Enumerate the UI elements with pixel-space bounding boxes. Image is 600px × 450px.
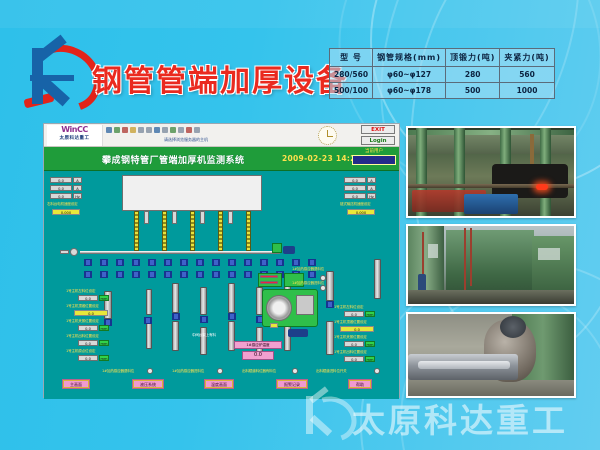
roller-icon [276,259,284,266]
photo-factory-hall [406,126,576,218]
roller-icon [148,271,156,278]
roller-icon [212,271,220,278]
status-led-label: 1#加热感应器进料位 [292,281,324,286]
right-readout-unit-3: Hz [367,193,376,199]
current-user-label: 当前用户 [352,148,396,155]
right-readout-field-3[interactable]: 0.0 [344,341,364,347]
joint-icon [228,313,236,320]
bottom-led-label-2: 1#加热感应器进料位 [172,369,204,374]
clamp-block [296,295,314,315]
watermark-logo-icon [304,396,344,436]
heater-post [134,211,139,251]
joint-icon [326,301,334,308]
left-readout-value-1[interactable]: 0.0 [50,177,72,183]
heater-post [218,211,223,251]
joint-icon [172,313,180,320]
col-header-pipe-spec: 钢管规格(mm) [373,49,446,67]
copy-icon[interactable] [138,127,144,133]
roller-icon [228,259,236,266]
current-user-box[interactable]: 当前用户 [352,148,396,165]
left-readout-label-3: 1号主机夹紧位置设定 [66,319,99,324]
roller-icon [292,259,300,266]
left-readout-unit-f4: mm [99,340,109,346]
roller [70,248,78,256]
nav-button-main[interactable]: 主画面 [62,379,90,389]
logo-k-icon [30,48,76,104]
nozzle [228,211,233,224]
undo-icon[interactable] [154,127,160,133]
nozzle [144,211,149,224]
status-led-label: 1#加热感应器退料位 [292,267,324,272]
cell-upset-force: 500 [446,83,500,99]
right-readout-unit-2: A [367,185,376,191]
roller-icon [244,271,252,278]
right-readout-label-3: 1号主机夹紧位置设定 [334,335,367,340]
nozzle [200,211,205,224]
left-readout-unit-f1: mm [99,295,109,301]
left-readout-unit-1: A [73,177,82,183]
furnace-body [122,175,262,211]
roller-icon [308,271,316,278]
roller-icon [116,271,124,278]
drive-motor [288,329,308,337]
spec-table: 型 号 钢管规格(mm) 顶锻力(吨) 夹紧力(吨) 280/560 φ60~φ… [329,48,555,99]
motor-unit [283,246,295,254]
cylinder [200,287,207,315]
nozzle [172,211,177,224]
right-readout-unit-f4: mm [365,356,375,362]
nav-button-hydraulic[interactable]: 液压系统 [132,379,164,389]
open-icon[interactable] [106,127,112,133]
background-band [0,0,600,28]
cylinder [146,323,152,349]
temp-caption: 1#感应炉温度 [234,341,282,349]
roller-icon [308,259,316,266]
col-header-upset-force: 顶锻力(吨) [446,49,500,67]
right-readout-unit-f3: mm [365,341,375,347]
col-header-model: 型 号 [330,49,373,67]
page-title: 钢管管端加厚设备 [92,56,348,100]
joint-icon [144,317,152,324]
left-readout-unit-3: Hz [73,193,82,199]
cell-pipe-spec: φ60~φ127 [373,67,446,83]
center-status-label: 中间台架上有料 [192,333,216,338]
right-readout-field-2[interactable]: 0.0 [340,326,374,332]
right-readout-field-4[interactable]: 0.0 [344,356,364,362]
bottom-led-2 [217,368,223,374]
left-panel-caption: 右料台电机速度设定 [47,202,78,207]
cylinder [326,321,334,355]
hmi-system-title: 攀成钢特管厂管端加厚机监测系统 [102,153,245,166]
left-readout-value-3[interactable]: 0.0 [50,193,72,199]
cylinder [326,271,334,301]
cell-model: 500/100 [330,83,373,99]
roller-icon [164,271,172,278]
left-readout-unit-2: A [73,185,82,191]
table-header-row: 型 号 钢管规格(mm) 顶锻力(吨) 夹紧力(吨) [330,49,555,67]
col-header-clamp-force: 夹紧力(吨) [500,49,554,67]
left-readout-unit-f5: mm [99,355,109,361]
heater-post [190,211,195,251]
left-readout-unit-f3: mm [99,325,109,331]
zoom-icon[interactable] [170,127,176,133]
nav-button-alarms[interactable]: 报警记录 [276,379,308,389]
cylinder [374,259,381,299]
hmi-screenshot-panel: WinCC 太原科达重工 请选择浏览服务器的主机 EXIT Login [43,123,400,398]
roller-icon [180,259,188,266]
right-readout-unit-f1: mm [365,311,375,317]
roller-icon [100,271,108,278]
watermark: 太原科达重工 [300,392,600,440]
paste-icon[interactable] [146,127,152,133]
current-user-value[interactable] [352,155,396,165]
roller-icon [164,259,172,266]
right-readout-label-2: 1号主机顶锻位置设定 [334,320,367,325]
right-readout-label-1: 1号主机左料位设定 [334,305,363,310]
hmi-process-diagram: 0.0 A 0.0 A 0.0 Hz 右料台电机速度设定 0.000 0.0 A… [44,171,399,399]
roller-icon [196,271,204,278]
hmi-banner: 攀成钢特管厂管端加厚机监测系统 2009-02-23 14:29:24 当前用户 [44,147,399,171]
right-readout-value-1[interactable]: 0.0 [344,177,366,183]
nav-button-help[interactable]: 帮助 [348,379,372,389]
cylinder [146,289,152,315]
right-readout-value-3[interactable]: 0.0 [344,193,366,199]
left-readout-label-4: 1号主机出料位置设定 [66,334,99,339]
company-logo-icon [22,44,102,112]
cylinder [228,283,235,313]
roller-icon [260,259,268,266]
status-chip [270,323,278,328]
cylinder [172,283,179,313]
left-readout-field-1[interactable]: 0.0 [78,295,98,301]
right-readout-unit-1: A [367,177,376,183]
bottom-led-label-4: 出料辊道进料位开关 [316,369,347,374]
right-panel-setpoint[interactable]: 0.000 [347,209,375,215]
left-readout-field-3[interactable]: 0.0 [78,325,98,331]
print-icon[interactable] [122,127,128,133]
roller-icon [132,271,140,278]
exit-button[interactable]: EXIT [361,125,395,134]
valve-indicator [272,243,282,253]
bottom-led-label-3: 出料辊道料位器有料位 [242,369,276,374]
roller-icon [84,259,92,266]
rotary-head [266,295,292,321]
roller-icon [196,259,204,266]
left-readout-field-2[interactable]: 0.0 [74,310,108,316]
cylinder [172,321,179,351]
heater-post [162,211,167,251]
roller-icon [180,271,188,278]
watermark-text: 太原科达重工 [352,394,568,442]
bottom-led-1 [147,368,153,374]
nav-button-temperature[interactable]: 温度画面 [204,379,234,389]
stop-icon[interactable] [186,127,192,133]
heater-post [246,211,251,251]
save-icon[interactable] [114,127,120,133]
right-readout-value-2[interactable]: 0.0 [344,185,366,191]
drive-link [60,250,69,254]
cell-upset-force: 280 [446,67,500,83]
cell-model: 280/560 [330,67,373,83]
slide-root: 钢管管端加厚设备 型 号 钢管规格(mm) 顶锻力(吨) 夹紧力(吨) 280/… [0,0,600,450]
roller-icon [212,259,220,266]
hmi-toolbar: WinCC 太原科达重工 请选择浏览服务器的主机 EXIT Login [44,124,399,147]
bottom-led-label-1: 1#加热感应器退料位 [102,369,134,374]
cell-clamp-force: 1000 [500,83,554,99]
wincc-logo: WinCC 太原科达重工 [47,125,103,146]
roller-icon [132,259,140,266]
joint-icon [200,316,208,323]
bottom-led-3 [292,368,298,374]
settings-icon[interactable] [194,127,200,133]
heater-bar [260,281,278,284]
photo-press-machine [406,224,576,306]
left-readout-label-2: 1号主机顶锻位置设定 [66,304,99,309]
heater-bar [260,275,278,278]
login-button[interactable]: Login [361,136,395,145]
table-row: 280/560 φ60~φ127 280 560 [330,67,555,83]
left-readout-value-2[interactable]: 0.0 [50,185,72,191]
roller-icon [148,259,156,266]
cylinder [200,327,207,355]
toolbar-subtitle: 请选择浏览服务器的主机 [164,137,208,143]
roller-icon [228,271,236,278]
left-readout-field-5[interactable]: 0.0 [78,355,98,361]
roller-icon [116,259,124,266]
bottom-led-4 [374,368,380,374]
right-panel-caption: 链式输送机速度设定 [340,202,371,207]
cut-icon[interactable] [130,127,136,133]
wincc-wordmark: WinCC [47,125,102,135]
clock-icon [318,126,337,145]
toolbar-icon-group[interactable] [106,127,200,133]
roller-icon [244,259,252,266]
wincc-subbrand: 太原科达重工 [47,135,102,143]
left-readout-label-5: 1号主机原点位设定 [66,349,95,354]
temp-value[interactable]: 0.0 [242,351,274,360]
roller-icon [100,259,108,266]
left-readout-field-4[interactable]: 0.0 [78,340,98,346]
conveyor-line [80,251,280,254]
left-panel-setpoint[interactable]: 0.000 [52,209,80,215]
right-readout-label-4: 1号主机出料位置设定 [334,350,367,355]
cell-clamp-force: 560 [500,67,554,83]
redo-icon[interactable] [162,127,168,133]
roller-icon [84,271,92,278]
grid-icon[interactable] [178,127,184,133]
left-readout-label-1: 1号主机左料位设定 [66,289,95,294]
cell-pipe-spec: φ60~φ178 [373,83,446,99]
photo-pipe-closeup [406,312,576,398]
table-row: 500/100 φ60~φ178 500 1000 [330,83,555,99]
right-readout-field-1[interactable]: 0.0 [344,311,364,317]
